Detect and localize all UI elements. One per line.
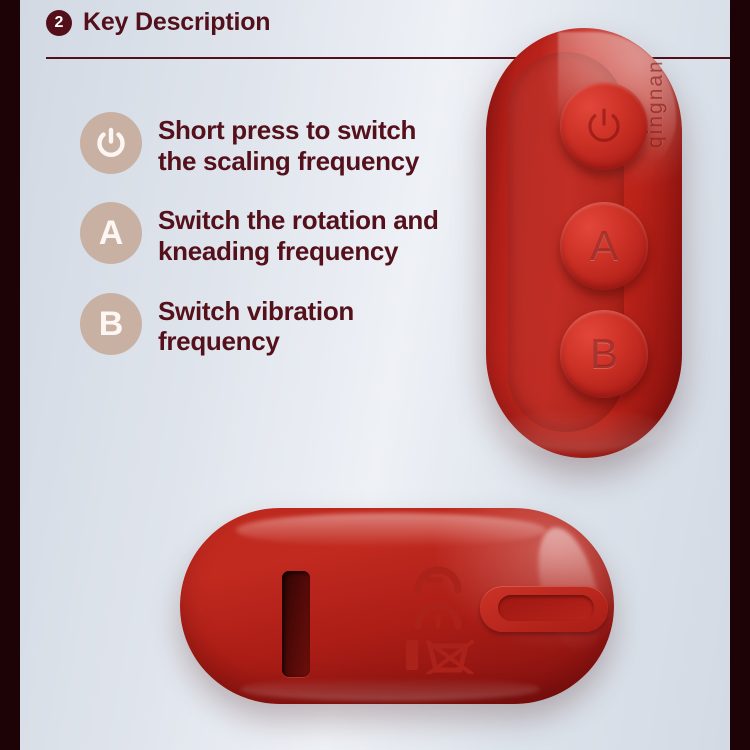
brand-emboss-text: qingnan	[644, 0, 674, 148]
b-button[interactable]: B	[560, 310, 648, 398]
list-item-text: Switch vibration frequency	[158, 293, 354, 357]
gloss-highlight-bottom	[240, 677, 540, 701]
power-button[interactable]	[560, 82, 648, 170]
list-item: Short press to switch the scaling freque…	[80, 112, 500, 176]
lanyard-clip	[480, 586, 608, 632]
list-item-line1: Short press to switch	[158, 115, 419, 146]
remote-control-back-image	[180, 508, 614, 704]
section-number-badge: 2	[46, 10, 72, 36]
power-icon	[80, 112, 142, 174]
list-item-text: Short press to switch the scaling freque…	[158, 112, 419, 176]
gloss-highlight-top	[236, 513, 546, 547]
list-item-line1: Switch the rotation and	[158, 205, 439, 236]
page-title: Key Description	[83, 8, 270, 37]
battery-slot	[282, 571, 310, 677]
page-header: 2 Key Description	[46, 8, 270, 37]
list-item-line2: the scaling frequency	[158, 146, 419, 177]
a-button[interactable]: A	[560, 202, 648, 290]
weee-crossed-bin-mark	[406, 640, 472, 674]
gloss-highlight-bottom	[502, 408, 664, 452]
list-item-line2: kneading frequency	[158, 236, 439, 267]
list-item: B Switch vibration frequency	[80, 293, 500, 357]
list-item-line2: frequency	[158, 326, 354, 357]
list-item-line1: Switch vibration	[158, 296, 354, 327]
list-item: A Switch the rotation and kneading frequ…	[80, 202, 500, 266]
letter-a-icon: A	[80, 202, 142, 264]
product-info-panel: 2 Key Description Short press to switch …	[0, 0, 750, 750]
list-item-text: Switch the rotation and kneading frequen…	[158, 202, 439, 266]
letter-b-icon: B	[80, 293, 142, 355]
key-description-list: Short press to switch the scaling freque…	[80, 112, 500, 383]
